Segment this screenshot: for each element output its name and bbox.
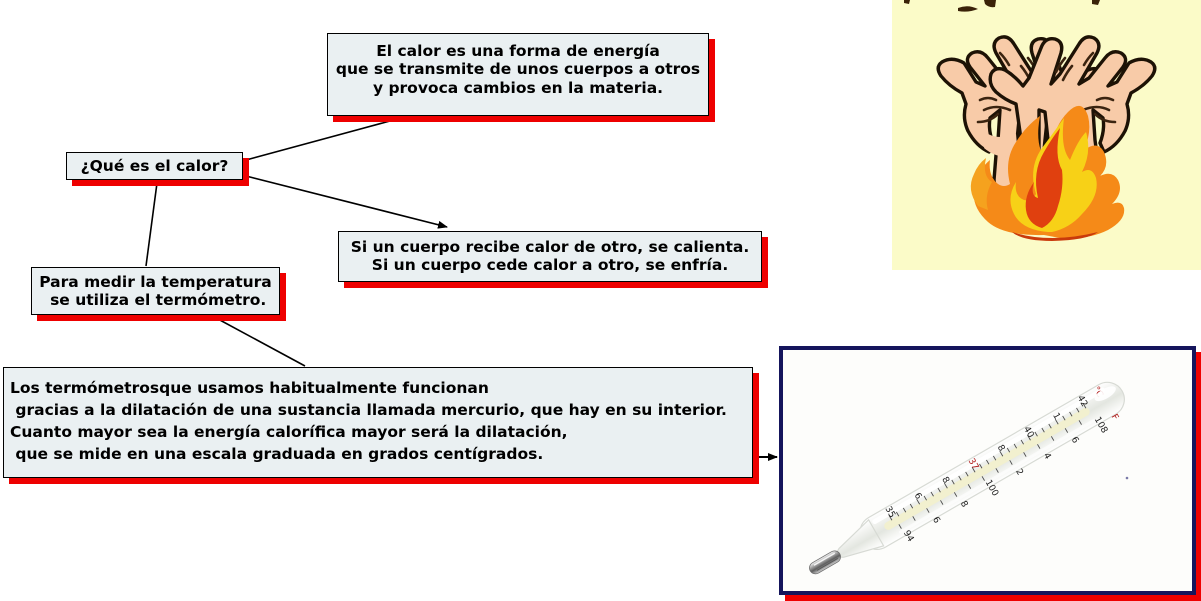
box-intercambio-de-calor[interactable]: Si un cuerpo recibe calor de otro, se ca… — [338, 231, 762, 282]
box-medir-temperatura[interactable]: Para medir la temperatura se utiliza el … — [31, 267, 280, 315]
connector-pregunta-a-definicion — [246, 115, 412, 160]
termometro-photo-illustration: 35 6 8 37 8 40 1 42 °C 94 6 8 100 2 — [783, 350, 1192, 591]
manos-fuego-illustration — [892, 0, 1201, 270]
box-definicion-calor[interactable]: El calor es una forma de energía que se … — [327, 33, 709, 116]
photo-speck — [1126, 477, 1129, 480]
image-manos-sobre-fuego — [892, 0, 1201, 270]
connector-pregunta-a-termometro — [146, 183, 157, 266]
concept-map-canvas: El calor es una forma de energía que se … — [0, 0, 1201, 601]
image-termometro-clinico: 35 6 8 37 8 40 1 42 °C 94 6 8 100 2 — [779, 346, 1196, 595]
connector-termometro-a-parrafo — [205, 312, 305, 366]
box-pregunta-que-es-el-calor[interactable]: ¿Qué es el calor? — [66, 152, 243, 180]
box-explicacion-termometros[interactable]: Los termómetrosque usamos habitualmente … — [3, 367, 753, 478]
connector-pregunta-a-intercambio — [246, 176, 447, 227]
